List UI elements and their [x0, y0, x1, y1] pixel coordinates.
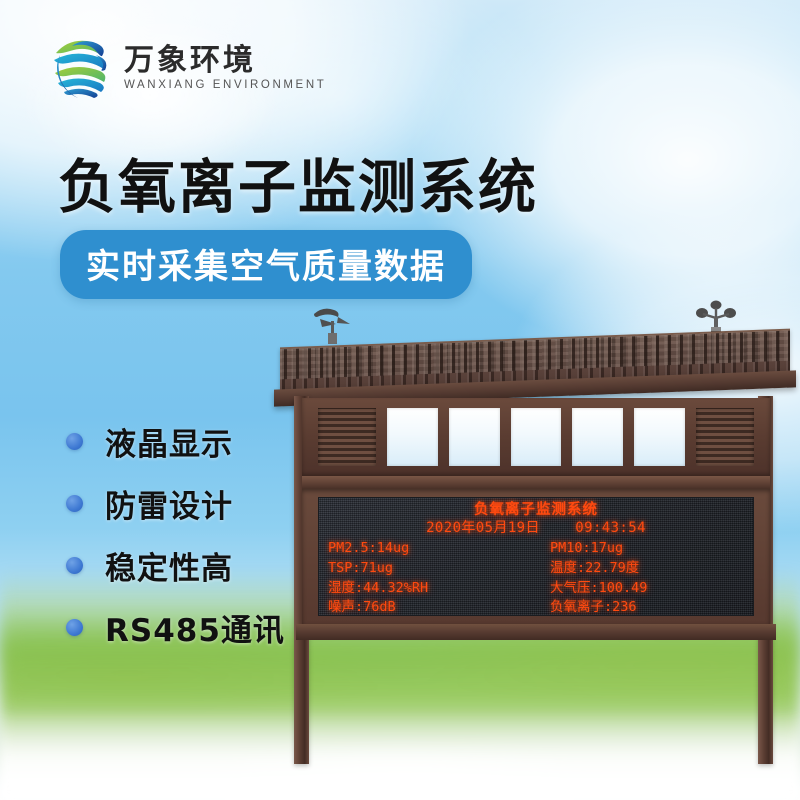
list-item: 液晶显示 — [66, 410, 285, 472]
window-bay — [634, 408, 685, 466]
feature-label: 稳定性高 — [105, 543, 233, 588]
mid-rail — [302, 476, 770, 489]
window-bays — [318, 408, 754, 466]
window-bay — [572, 408, 623, 466]
feature-label: RS485通讯 — [105, 605, 285, 650]
vent-panel-right — [696, 408, 754, 466]
brand-name-cn: 万象环境 — [124, 45, 326, 77]
roof-tiles — [280, 331, 790, 380]
feature-label: 液晶显示 — [105, 419, 233, 464]
led-reading-pm10: PM10:17ug — [536, 539, 744, 558]
vent-panel-left — [318, 408, 376, 466]
wind-vane-sensor-icon — [310, 303, 356, 345]
led-display: 负氧离子监测系统 2020年05月19日 09:43:54 PM2.5:14ug… — [318, 497, 754, 616]
led-reading-humidity: 湿度:44.32%RH — [328, 579, 536, 598]
feature-label: 防雷设计 — [105, 481, 233, 526]
led-datetime-gap — [549, 520, 567, 536]
window-bay — [387, 408, 438, 466]
led-reading-negative-ions: 负氧离子:236 — [536, 598, 744, 616]
led-reading-pressure: 大气压:100.49 — [536, 579, 744, 598]
lower-rail — [296, 624, 776, 640]
subtitle-banner: 实时采集空气质量数据 — [60, 230, 472, 299]
monitoring-station: 负氧离子监测系统 2020年05月19日 09:43:54 PM2.5:14ug… — [280, 300, 790, 770]
window-bay — [511, 408, 562, 466]
bullet-dot-icon — [66, 557, 83, 574]
list-item: 防雷设计 — [66, 472, 285, 534]
list-item: 稳定性高 — [66, 534, 285, 596]
led-readings-grid: PM2.5:14ug PM10:17ug TSP:71ug 温度:22.79度 … — [328, 539, 744, 616]
page-title: 负氧离子监测系统 — [58, 140, 538, 224]
led-time: 09:43:54 — [575, 520, 646, 536]
subtitle-text: 实时采集空气质量数据 — [86, 247, 446, 287]
led-reading-pm25: PM2.5:14ug — [328, 539, 536, 558]
promo-banner: 万象环境 WANXIANG ENVIRONMENT 负氧离子监测系统 实时采集空… — [0, 0, 800, 800]
led-reading-noise: 噪声:76dB — [328, 598, 536, 616]
brand-name-en: WANXIANG ENVIRONMENT — [124, 79, 326, 91]
globe-swirl-logo-icon — [48, 33, 114, 103]
brand-logo: 万象环境 WANXIANG ENVIRONMENT — [48, 33, 326, 103]
list-item: RS485通讯 — [66, 596, 285, 658]
bullet-dot-icon — [66, 619, 83, 636]
station-frame: 负氧离子监测系统 2020年05月19日 09:43:54 PM2.5:14ug… — [302, 398, 770, 640]
bullet-dot-icon — [66, 495, 83, 512]
led-reading-temperature: 温度:22.79度 — [536, 559, 744, 578]
feature-list: 液晶显示 防雷设计 稳定性高 RS485通讯 — [66, 410, 285, 658]
led-title: 负氧离子监测系统 — [328, 501, 744, 519]
led-screen-bezel: 负氧离子监测系统 2020年05月19日 09:43:54 PM2.5:14ug… — [302, 489, 770, 624]
led-reading-tsp: TSP:71ug — [328, 559, 536, 578]
led-datetime: 2020年05月19日 09:43:54 — [328, 519, 744, 537]
led-date: 2020年05月19日 — [426, 520, 540, 536]
bullet-dot-icon — [66, 433, 83, 450]
window-bay — [449, 408, 500, 466]
